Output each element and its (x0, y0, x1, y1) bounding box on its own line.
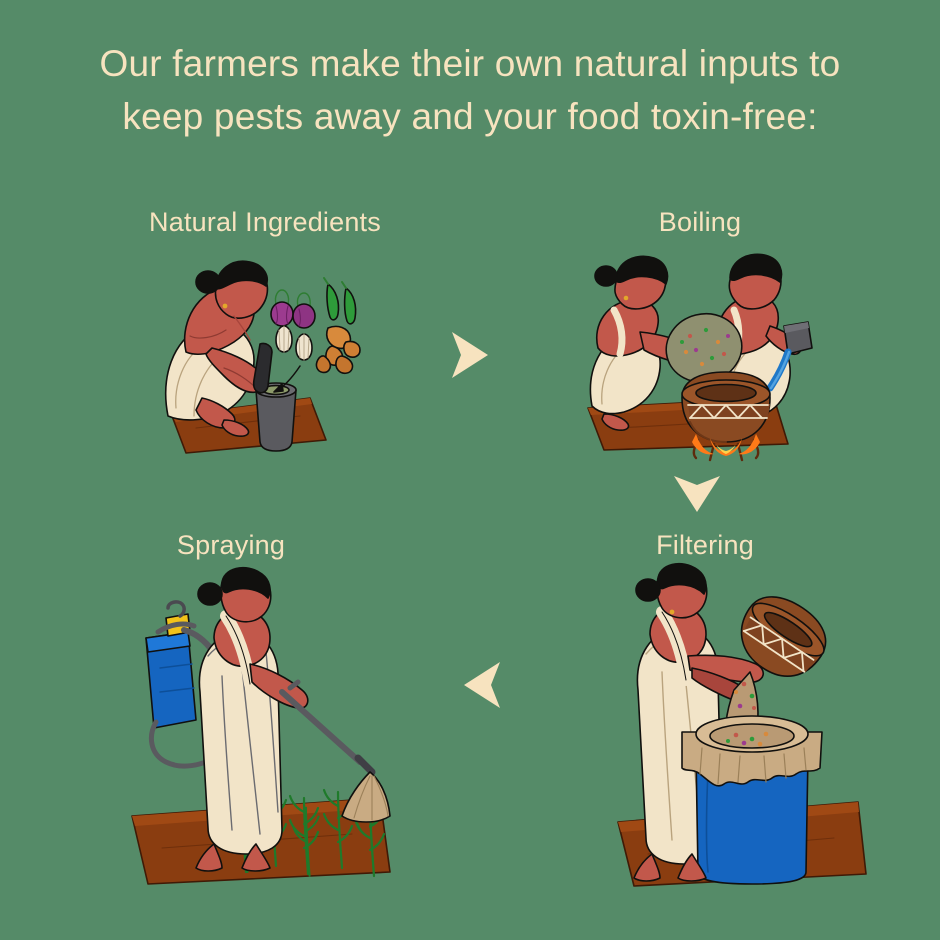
onion-2 (293, 304, 315, 328)
chilli-1 (327, 284, 339, 320)
illustration-boiling (578, 248, 818, 463)
clay-pot-2 (682, 372, 770, 442)
step-label-boiling: Boiling (480, 207, 920, 238)
step-label-spraying: Spraying (0, 530, 462, 561)
earring-4 (670, 610, 675, 615)
backpack-sprayer (146, 602, 196, 728)
infographic-poster: Our farmers make their own natural input… (0, 0, 940, 940)
ginger (316, 326, 360, 373)
spray-nozzle (358, 758, 372, 772)
illustration-filtering (608, 572, 868, 902)
page-title-line-1: Our farmers make their own natural input… (0, 38, 940, 91)
illustration-spraying (122, 572, 392, 902)
ingredients-cluster (271, 278, 360, 392)
arrow-filtering-to-spraying-icon (458, 660, 504, 710)
spray-plume (342, 772, 390, 822)
page-title-line-2: keep pests away and your food toxin-free… (0, 91, 940, 144)
earring-1 (223, 304, 228, 309)
hair-bun-4 (636, 579, 660, 601)
spray-lance (282, 692, 360, 762)
arrow-ingredients-to-boiling-icon (448, 330, 494, 380)
step-label-filtering: Filtering (480, 530, 930, 561)
chilli-2 (345, 288, 356, 324)
arrow-boiling-to-filtering-icon (672, 472, 722, 518)
hair-bun-1 (196, 271, 220, 293)
illustration-natural-ingredients (150, 248, 365, 463)
earring-2a (624, 296, 629, 301)
step-label-natural-ingredients: Natural Ingredients (0, 207, 530, 238)
hair-bun-2a (595, 266, 617, 286)
page-title: Our farmers make their own natural input… (0, 38, 940, 143)
onion-1 (271, 302, 293, 326)
hair-bun-3 (198, 583, 222, 605)
